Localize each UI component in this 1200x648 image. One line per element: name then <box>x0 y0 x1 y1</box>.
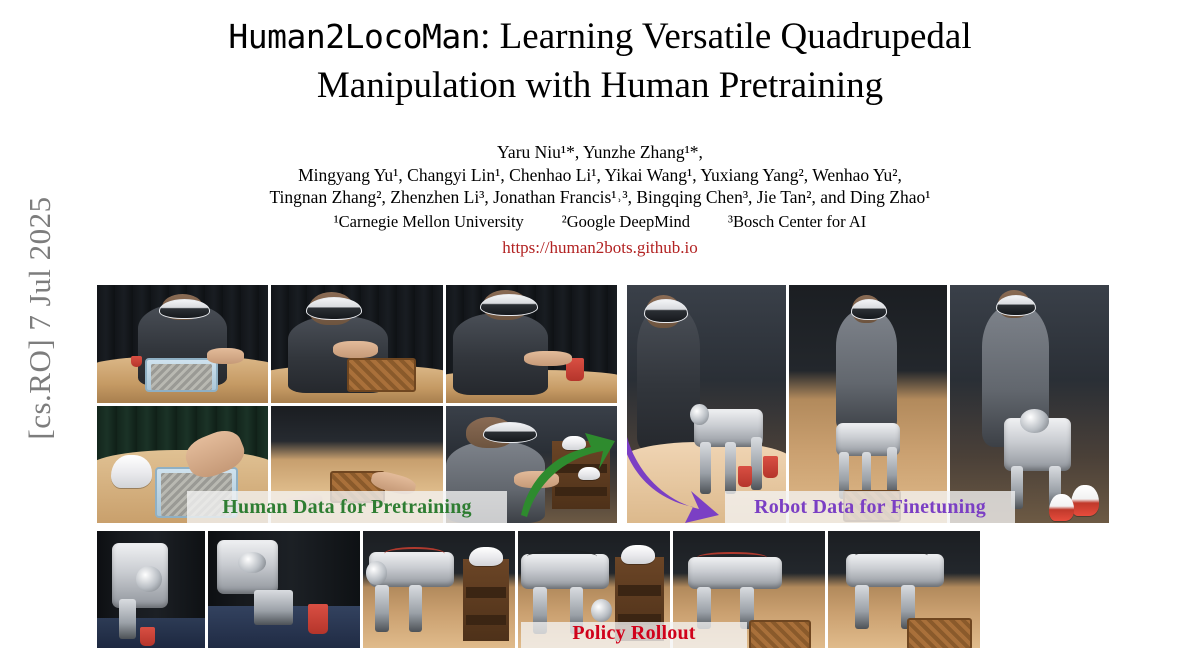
title-line-2: Manipulation with Human Pretraining <box>90 61 1110 110</box>
vr-headset-icon <box>306 297 363 320</box>
vr-headset-icon <box>644 299 687 322</box>
project-website-link[interactable]: https://human2bots.github.io <box>90 237 1110 259</box>
vr-headset-icon <box>159 299 211 319</box>
affiliation-1: ¹Carnegie Mellon University <box>334 212 524 231</box>
human-panel-2 <box>271 285 442 403</box>
paper-content-column: Human2LocoMan: Learning Versatile Quadru… <box>90 0 1200 648</box>
robot-panel-1 <box>627 285 786 523</box>
affiliation-2: ²Google DeepMind <box>562 212 690 231</box>
author-line-2: Mingyang Yu¹, Changyi Lin¹, Chenhao Li¹,… <box>90 164 1110 187</box>
rollout-panel-6 <box>828 531 980 648</box>
affiliation-3: ³Bosch Center for AI <box>728 212 866 231</box>
rollout-panel-3 <box>363 531 515 648</box>
human-data-panel-group: Human Data for Pretraining <box>97 285 617 523</box>
human-panel-3 <box>446 285 617 403</box>
robot-data-panel-group: Robot Data for Finetuning <box>627 285 1109 523</box>
author-line-1: Yaru Niu¹*, Yunzhe Zhang¹*, <box>90 141 1110 164</box>
arxiv-stamp-text: [cs.RO] 7 Jul 2025 <box>22 108 58 528</box>
robot-panel-3 <box>950 285 1109 523</box>
rollout-panel-1 <box>97 531 205 648</box>
arxiv-side-stamp: [cs.RO] 7 Jul 2025 <box>0 0 90 648</box>
teaser-figure: Human Data for Pretraining <box>95 283 1111 648</box>
robot-panel-2 <box>789 285 948 523</box>
vr-headset-icon <box>480 294 539 316</box>
human-panel-1 <box>97 285 268 403</box>
paper-title: Human2LocoMan: Learning Versatile Quadru… <box>90 12 1110 110</box>
affiliation-line: ¹Carnegie Mellon University²Google DeepM… <box>90 210 1110 234</box>
policy-rollout-panel-group: Policy Rollout <box>97 531 1109 648</box>
rollout-panel-2 <box>208 531 360 648</box>
author-block: Yaru Niu¹*, Yunzhe Zhang¹*, Mingyang Yu¹… <box>90 141 1110 259</box>
author-line-3: Tingnan Zhang², Zhenzhen Li³, Jonathan F… <box>90 186 1110 209</box>
vr-headset-icon <box>851 299 888 320</box>
robot-data-caption: Robot Data for Finetuning <box>725 491 1015 523</box>
vr-headset-icon <box>483 422 536 443</box>
figure-top-row: Human Data for Pretraining <box>95 283 1111 525</box>
title-line-1: Human2LocoMan: Learning Versatile Quadru… <box>90 12 1110 61</box>
title-line-1-rest: : Learning Versatile Quadrupedal <box>480 16 971 57</box>
project-name: Human2LocoMan <box>228 17 480 56</box>
vr-headset-icon <box>996 295 1036 316</box>
human-data-caption: Human Data for Pretraining <box>187 491 507 523</box>
policy-rollout-caption: Policy Rollout <box>521 622 747 648</box>
